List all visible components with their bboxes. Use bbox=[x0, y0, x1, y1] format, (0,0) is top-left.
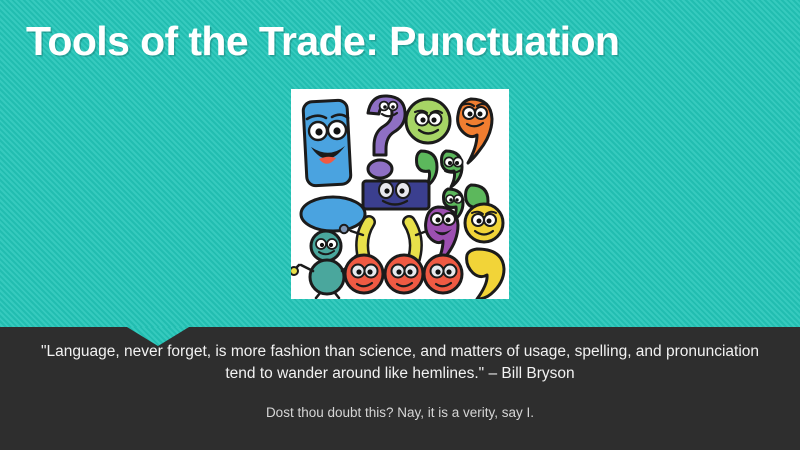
period-yellow-character bbox=[465, 204, 503, 242]
punctuation-illustration bbox=[291, 89, 509, 299]
hyphen-character bbox=[301, 197, 365, 231]
presentation-slide: Tools of the Trade: Punctuation bbox=[0, 0, 800, 450]
ellipsis-dot-1 bbox=[345, 255, 383, 293]
period-character bbox=[406, 99, 450, 143]
ellipsis-dot-3 bbox=[424, 255, 462, 293]
quote-text: "Language, never forget, is more fashion… bbox=[28, 341, 772, 386]
subquote-text: Dost thou doubt this? Nay, it is a verit… bbox=[28, 404, 772, 423]
exclamation-mark-character bbox=[303, 100, 351, 186]
ellipsis-dot-2 bbox=[385, 255, 423, 293]
page-title: Tools of the Trade: Punctuation bbox=[26, 20, 766, 63]
em-dash-character bbox=[363, 181, 429, 209]
caption-band: "Language, never forget, is more fashion… bbox=[0, 327, 800, 450]
